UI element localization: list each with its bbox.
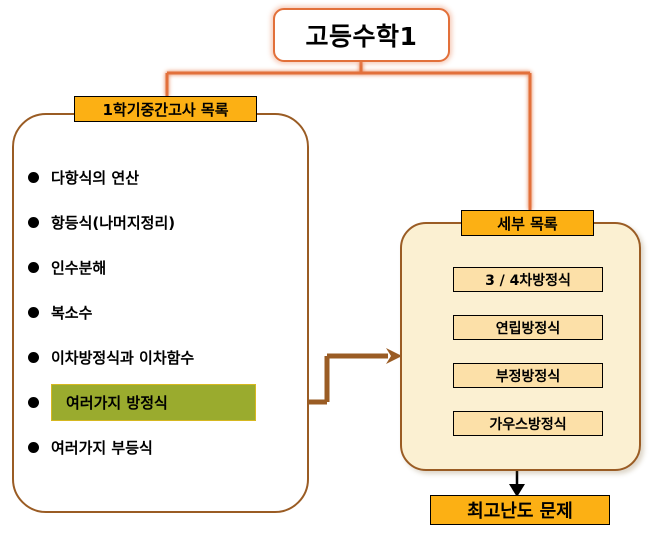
detail-item-label: 연립방정식 — [496, 318, 560, 338]
list-item-label: 다항식의 연산 — [51, 167, 139, 188]
bullet-icon — [28, 172, 39, 183]
list-item-label: 인수분해 — [51, 257, 106, 278]
list-item-label: 이차방정식과 이차함수 — [51, 347, 194, 368]
list-item-label: 여러가지 부등식 — [51, 437, 153, 458]
bullet-icon — [28, 442, 39, 453]
exam-list-header-label: 1학기중간고사 목록 — [102, 99, 228, 120]
root-title-label: 고등수학1 — [306, 17, 418, 53]
bullet-icon — [28, 262, 39, 273]
exam-topic-list: 다항식의 연산 항등식(나머지정리) 인수분해 복소수 이차방정식과 이차함수 … — [28, 155, 300, 470]
bullet-icon — [28, 307, 39, 318]
bullet-icon — [28, 217, 39, 228]
hardest-problem-box[interactable]: 최고난도 문제 — [430, 495, 610, 525]
detail-item-box[interactable]: 부정방정식 — [453, 363, 603, 388]
list-item[interactable]: 이차방정식과 이차함수 — [28, 335, 300, 380]
exam-list-header[interactable]: 1학기중간고사 목록 — [74, 96, 257, 122]
detail-list-header-label: 세부 목록 — [497, 213, 557, 234]
list-item-highlighted[interactable]: 여러가지 방정식 — [28, 380, 300, 425]
list-item[interactable]: 인수분해 — [28, 245, 300, 290]
list-item-label: 항등식(나머지정리) — [51, 212, 175, 233]
detail-item-label: 가우스방정식 — [489, 414, 566, 434]
detail-item-box[interactable]: 가우스방정식 — [453, 411, 603, 436]
detail-item-box[interactable]: 3 / 4차방정식 — [453, 267, 603, 292]
bullet-icon — [28, 397, 39, 408]
detail-item-box[interactable]: 연립방정식 — [453, 315, 603, 340]
hardest-problem-label: 최고난도 문제 — [467, 497, 573, 523]
list-item-label: 복소수 — [51, 302, 92, 323]
list-item[interactable]: 항등식(나머지정리) — [28, 200, 300, 245]
list-item[interactable]: 복소수 — [28, 290, 300, 335]
detail-item-label: 부정방정식 — [496, 366, 560, 386]
detail-item-label: 3 / 4차방정식 — [485, 270, 571, 290]
list-item-label: 여러가지 방정식 — [51, 384, 256, 421]
detail-list-header[interactable]: 세부 목록 — [461, 210, 594, 236]
list-item[interactable]: 다항식의 연산 — [28, 155, 300, 200]
bullet-icon — [28, 352, 39, 363]
list-item[interactable]: 여러가지 부등식 — [28, 425, 300, 470]
root-title-box[interactable]: 고등수학1 — [273, 8, 450, 62]
diagram-canvas: 고등수학1 1학기중간고사 목록 다항식의 연산 항등식(나머지정리) 인수분해… — [0, 0, 655, 534]
